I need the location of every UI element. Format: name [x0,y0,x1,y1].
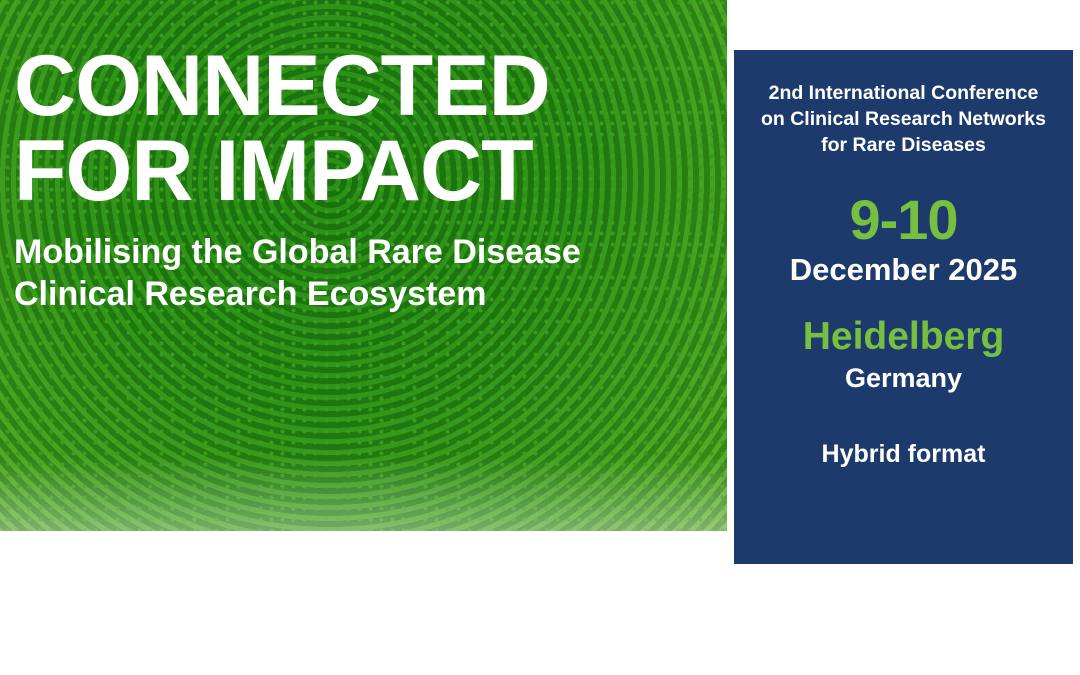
conference-title-line-3: for Rare Diseases [752,132,1055,158]
page-title: CONNECTED FOR IMPACT [14,44,714,214]
event-country: Germany [734,363,1073,394]
page-subtitle: Mobilising the Global Rare Disease Clini… [14,232,714,315]
hero-text-block: CONNECTED FOR IMPACT Mobilising the Glob… [14,44,714,315]
conference-title-line-2: on Clinical Research Networks [752,106,1055,132]
headline-line-2: FOR IMPACT [14,129,714,214]
event-month-year: December 2025 [734,253,1073,287]
event-city: Heidelberg [734,317,1073,356]
conference-banner: CONNECTED FOR IMPACT Mobilising the Glob… [0,0,1080,675]
headline-line-1: CONNECTED [14,38,550,134]
event-info-panel: 2nd International Conference on Clinical… [734,50,1073,564]
subhead-line-2: Clinical Research Ecosystem [14,274,714,315]
event-format: Hybrid format [734,440,1073,469]
event-dates: 9-10 [734,192,1073,248]
hero-green-panel: CONNECTED FOR IMPACT Mobilising the Glob… [0,0,727,531]
conference-title-line-1: 2nd International Conference [752,80,1055,106]
conference-title: 2nd International Conference on Clinical… [752,80,1055,158]
subhead-line-1: Mobilising the Global Rare Disease [14,233,581,271]
